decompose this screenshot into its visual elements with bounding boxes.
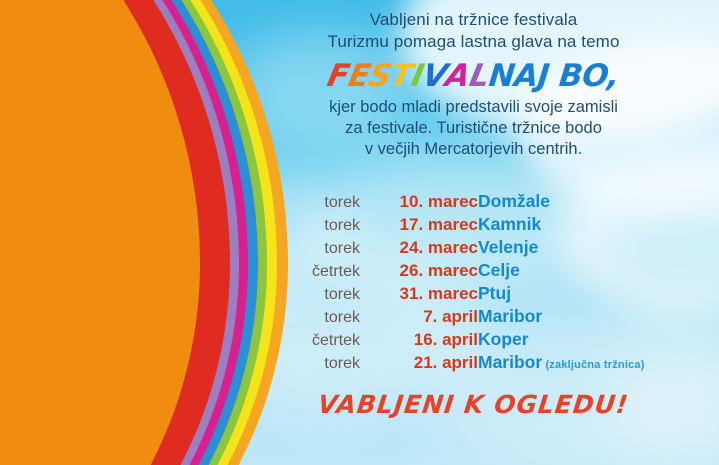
schedule-row: torek24. marecVelenje	[228, 236, 719, 259]
festival-title-suffix: NAJ BO,	[487, 58, 621, 94]
body-line-1: kjer bodo mladi predstavili svoje zamisl…	[228, 97, 719, 118]
schedule-city: Kamnik	[478, 213, 719, 236]
intro-text: Vabljeni na tržnice festivala Turizmu po…	[228, 0, 719, 53]
call-to-action: VABLJENI K OGLEDU!	[228, 390, 719, 419]
schedule-row: torek10. marecDomžale	[228, 190, 719, 213]
schedule-date: 16. april	[360, 328, 478, 351]
schedule-date: 10. marec	[360, 190, 478, 213]
schedule-row: torek31. marecPtuj	[228, 282, 719, 305]
poster-canvas: TURISTIČNA ZVEZA SLOVENIJE ZNANJE, MLADI…	[0, 0, 719, 465]
schedule-city: Maribor (zaključna tržnica)	[478, 351, 719, 374]
schedule-table: torek10. marecDomžaletorek17. marecKamni…	[228, 190, 719, 374]
schedule-city: Velenje	[478, 236, 719, 259]
poster-content: Vabljeni na tržnice festivala Turizmu po…	[228, 0, 719, 465]
schedule-row: četrtek26. marecCelje	[228, 259, 719, 282]
schedule-city: Ptuj	[478, 282, 719, 305]
call-to-action-text: VABLJENI K OGLEDU!	[316, 390, 630, 419]
schedule-date: 21. april	[360, 351, 478, 374]
body-copy: kjer bodo mladi predstavili svoje zamisl…	[228, 97, 719, 160]
schedule-date: 31. marec	[360, 282, 478, 305]
schedule-row: torek7. aprilMaribor	[228, 305, 719, 328]
festival-title-letters: FESTIVAL	[326, 58, 491, 94]
schedule-city: Celje	[478, 259, 719, 282]
schedule-city: Maribor	[478, 305, 719, 328]
body-line-3: v večjih Mercatorjevih centrih.	[228, 139, 719, 160]
schedule-date: 17. marec	[360, 213, 478, 236]
schedule-city: Domžale	[478, 190, 719, 213]
intro-line-1: Vabljeni na tržnice festivala	[228, 9, 719, 31]
schedule-city: Koper	[478, 328, 719, 351]
festival-title: FESTIVAL NAJ BO,	[228, 58, 719, 94]
schedule-city-note: (zaključna tržnica)	[542, 359, 644, 371]
intro-line-2: Turizmu pomaga lastna glava na temo	[228, 31, 719, 53]
schedule-row: torek17. marecKamnik	[228, 213, 719, 236]
schedule-date: 7. april	[360, 305, 478, 328]
schedule-row: torek21. aprilMaribor (zaključna tržnica…	[228, 351, 719, 374]
schedule-date: 26. marec	[360, 259, 478, 282]
schedule-date: 24. marec	[360, 236, 478, 259]
schedule-row: četrtek16. aprilKoper	[228, 328, 719, 351]
body-line-2: za festivale. Turistične tržnice bodo	[228, 118, 719, 139]
